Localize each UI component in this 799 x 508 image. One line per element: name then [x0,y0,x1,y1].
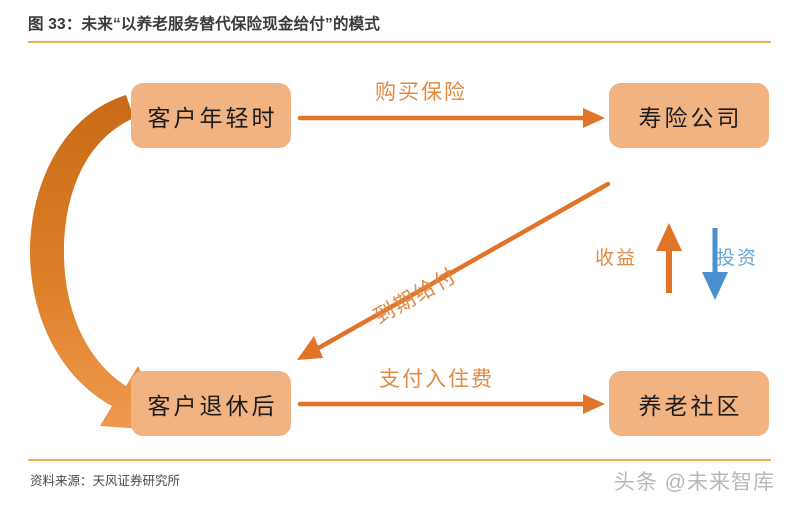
node-label: 客户退休后 [145,387,278,421]
node-customer-young[interactable]: 客户年轻时 [131,83,291,148]
arrow-buy-insurance [300,108,605,128]
edge-label-pay-residence-fee: 支付入住费 [379,363,494,393]
node-senior-community[interactable]: 养老社区 [609,371,769,436]
title-divider [28,41,771,43]
figure-page: 图 33：未来“以养老服务替代保险现金给付”的模式 [0,0,799,508]
footer-divider [28,459,771,461]
watermark: 头条 @未来智库 [614,466,775,496]
diagram-canvas: 客户年轻时 寿险公司 客户退休后 养老社区 购买保险 到期给付 支付入住费 收益… [0,48,799,456]
node-label: 寿险公司 [636,99,743,133]
node-label: 养老社区 [636,387,743,421]
node-life-insurer[interactable]: 寿险公司 [609,83,769,148]
edge-label-investment: 投资 [716,243,758,270]
edge-label-returns: 收益 [595,243,637,270]
source-note: 资料来源：天风证券研究所 [30,470,180,489]
page-title: 图 33：未来“以养老服务替代保险现金给付”的模式 [28,12,380,34]
arrow-pay-fee [300,394,605,414]
arrow-returns-up [656,223,682,293]
node-customer-retired[interactable]: 客户退休后 [131,371,291,436]
edge-label-buy-insurance: 购买保险 [375,76,467,106]
node-label: 客户年轻时 [145,99,278,133]
